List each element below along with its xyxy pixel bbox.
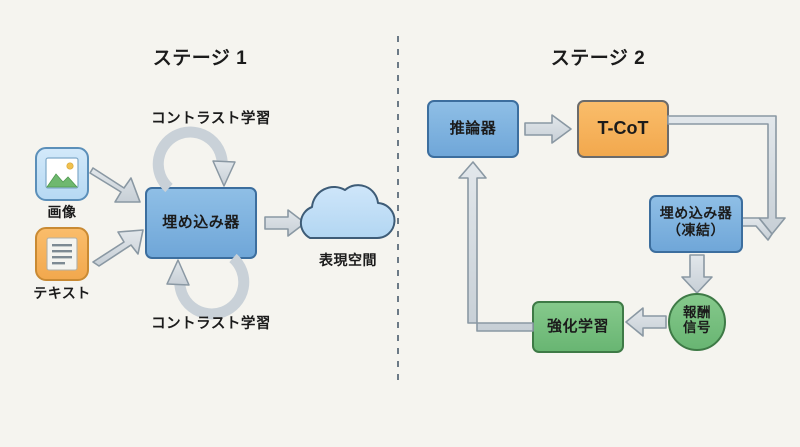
diagram-canvas: ステージ 1 コントラスト学習 コントラスト学習 画像 テキスト 埋め込み器 表… [0,0,800,447]
reinforcement-learning-label: 強化学習 [533,318,623,335]
reward-signal-label-line2: 信号 [667,321,727,336]
document-icon [36,228,88,280]
stage1-loop-label-bottom: コントラスト学習 [121,316,301,333]
stage2-title: ステージ 2 [498,48,698,70]
text-input-label: テキスト [12,285,112,301]
t-cot-label: T-CoT [578,118,668,139]
arrow-text-to-embedder [93,230,143,266]
representation-space-label: 表現空間 [296,252,400,268]
cloud-shape [301,185,395,238]
image-icon [36,148,88,200]
reward-signal-label: 報酬 信号 [667,306,727,336]
frozen-embedder-label: 埋め込み器 （凍結） [650,205,742,238]
embedder-label: 埋め込み器 [146,214,256,231]
arrow-rl-to-reasoner [459,162,533,331]
frozen-embedder-label-line1: 埋め込み器 [650,205,742,222]
stage1-loop-label-top: コントラスト学習 [121,111,301,128]
loop-arrow-top [158,132,235,188]
image-input-label: 画像 [22,204,102,220]
arrow-reasoner-to-tcot [525,115,571,143]
arrow-image-to-embedder [90,168,140,202]
stage1-title: ステージ 1 [100,48,300,70]
reward-signal-label-line1: 報酬 [667,306,727,321]
frozen-embedder-label-line2: （凍結） [650,222,742,239]
loop-arrow-bottom [167,258,244,314]
arrow-reward-to-rl [626,308,666,336]
arrow-embedder-to-cloud [265,210,305,236]
arrow-frozen-embedder-to-reward [682,255,712,293]
reasoner-label: 推論器 [428,120,518,137]
